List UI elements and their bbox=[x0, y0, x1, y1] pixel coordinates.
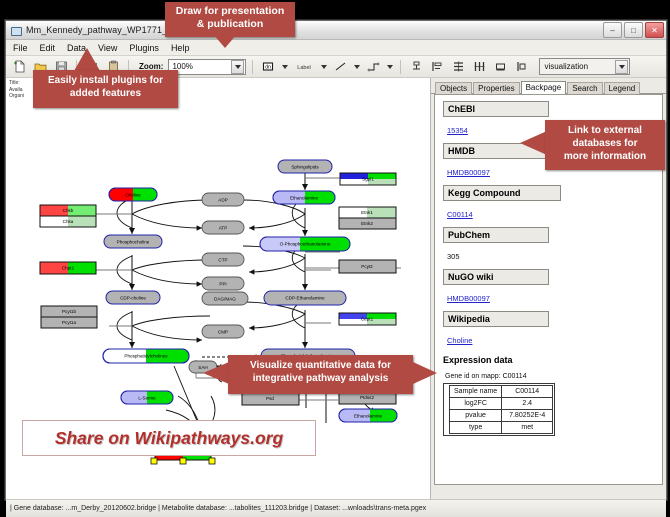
table-row: pvalue 7.80252E-4 bbox=[450, 410, 553, 422]
db-link-nugo[interactable]: HMDB00097 bbox=[447, 294, 490, 303]
gene-label: Chkb bbox=[63, 208, 74, 213]
callout-visualize-line2: integrative pathway analysis bbox=[228, 372, 413, 385]
gene-box-chkb-chka[interactable]: Chkb Chka bbox=[40, 205, 96, 227]
callout-links: Link to external databases for more info… bbox=[545, 120, 665, 170]
gene-box-cept1[interactable]: Cept1 bbox=[339, 313, 396, 325]
gene-box-chpt1[interactable]: Chpt1 bbox=[40, 262, 96, 274]
gene-label: Sgpl1 bbox=[362, 176, 374, 181]
node-ppi[interactable]: PPi bbox=[202, 277, 244, 290]
db-header-nugo: NuGO wiki bbox=[443, 269, 549, 285]
callout-visualize-line1: Visualize quantitative data for bbox=[228, 359, 413, 372]
node-label: CDP-Ethanolamine bbox=[285, 296, 325, 301]
node-label: CDP-choline bbox=[120, 295, 146, 300]
align-center-icon[interactable] bbox=[407, 58, 425, 76]
row-key: type bbox=[450, 422, 502, 434]
node-label: Ethanolamine bbox=[290, 195, 319, 200]
chevron-down-icon[interactable] bbox=[615, 60, 628, 74]
chevron-down-icon[interactable] bbox=[231, 60, 244, 74]
gene-id-label: Gene id on mapp: C00114 bbox=[445, 373, 654, 380]
gene-label: Etnk2 bbox=[361, 221, 373, 226]
gene-label: Chka bbox=[63, 219, 74, 224]
gene-label: Chpt1 bbox=[62, 265, 75, 270]
zoom-combobox[interactable]: 100% bbox=[168, 59, 246, 75]
app-icon bbox=[10, 24, 22, 36]
row-value: 2.4 bbox=[502, 398, 553, 410]
ungroup-icon[interactable] bbox=[512, 58, 530, 76]
connector-icon[interactable] bbox=[364, 58, 382, 76]
node-cdp-ethanolamine[interactable]: CDP-Ethanolamine bbox=[264, 291, 346, 305]
node-label: Phosphocholine bbox=[117, 239, 150, 244]
row-key: log2FC bbox=[450, 398, 502, 410]
menu-bar: File Edit Data View Plugins Help bbox=[6, 40, 666, 56]
row-value: 7.80252E-4 bbox=[502, 410, 553, 422]
db-header-kegg: Kegg Compound bbox=[443, 185, 561, 201]
row-key: Sample name bbox=[450, 386, 502, 398]
node-label: PPi bbox=[219, 281, 226, 286]
toolbar-separator bbox=[252, 60, 253, 74]
node-l-serine-left[interactable]: L-Serine bbox=[121, 391, 173, 404]
screenshot-root: Mm_Kennedy_pathway_WP1771_45176.gpml – □… bbox=[0, 0, 670, 509]
tab-search[interactable]: Search bbox=[567, 82, 602, 94]
node-sphingolipids[interactable]: Sphingolipids bbox=[278, 160, 332, 173]
table-row: Sample name C00114 bbox=[450, 386, 553, 398]
callout-share: Share on Wikipathways.org bbox=[22, 420, 316, 456]
gene-label: Cept1 bbox=[361, 316, 374, 321]
datanode-icon[interactable]: dn bbox=[259, 58, 277, 76]
row-value: met bbox=[502, 422, 553, 434]
gene-box-sgpl1[interactable]: Sgpl1 bbox=[340, 173, 396, 185]
node-cmp[interactable]: CMP bbox=[202, 325, 244, 338]
callout-plugins-arrow-icon bbox=[74, 48, 100, 71]
chevron-down-icon[interactable] bbox=[352, 60, 361, 74]
tab-properties[interactable]: Properties bbox=[473, 82, 519, 94]
node-ethanolamine-bottom[interactable]: Ethanolamine bbox=[339, 409, 397, 422]
callout-links-line3: more information bbox=[545, 150, 665, 163]
table-row: log2FC 2.4 bbox=[450, 398, 553, 410]
db-link-kegg[interactable]: C00114 bbox=[447, 210, 473, 219]
node-label: CTP bbox=[218, 257, 227, 262]
line-icon[interactable] bbox=[331, 58, 349, 76]
db-header-pubchem: PubChem bbox=[443, 227, 549, 243]
node-choline-top[interactable]: Choline bbox=[109, 188, 157, 201]
group-icon[interactable] bbox=[491, 58, 509, 76]
gene-box-pcyt2[interactable]: Pcyt2 bbox=[339, 260, 396, 273]
db-header-wikipedia: Wikipedia bbox=[443, 311, 549, 327]
gene-box-pcyt1b-pcyt1a[interactable]: Pcyt1b Pcyt1a bbox=[41, 306, 97, 328]
callout-plugins: Easily install plugins for added feature… bbox=[33, 70, 178, 108]
expression-data-title: Expression data bbox=[443, 355, 654, 365]
node-phosphatidylcholines[interactable]: Phosphatidylcholines bbox=[103, 349, 189, 363]
callout-draw: Draw for presentation & publication bbox=[165, 2, 295, 37]
title-bar: Mm_Kennedy_pathway_WP1771_45176.gpml – □… bbox=[6, 21, 666, 40]
menu-plugins[interactable]: Plugins bbox=[127, 43, 161, 53]
node-label: Ethanolamine bbox=[354, 413, 383, 418]
gene-label: Pcyt2 bbox=[361, 264, 373, 269]
maximize-button[interactable]: □ bbox=[624, 22, 643, 38]
db-link-wikipedia[interactable]: Choline bbox=[447, 336, 472, 345]
node-dag-mag[interactable]: DAG/MAG bbox=[202, 292, 248, 305]
node-o-phosphoethanolamine[interactable]: O-Phosphoethanolamine bbox=[260, 237, 350, 251]
gene-label: Etnk1 bbox=[361, 210, 373, 215]
node-cdp-choline[interactable]: CDP-choline bbox=[106, 291, 160, 304]
close-button[interactable]: ✕ bbox=[645, 22, 664, 38]
gene-box-etnk1-etnk2[interactable]: Etnk1 Etnk2 bbox=[339, 207, 396, 229]
new-file-icon[interactable] bbox=[10, 58, 28, 76]
callout-visualize: Visualize quantitative data for integrat… bbox=[228, 355, 413, 394]
svg-text:dn: dn bbox=[265, 64, 271, 70]
visualization-value: visualization bbox=[544, 62, 588, 71]
callout-draw-arrow-icon bbox=[213, 34, 237, 48]
row-value: C00114 bbox=[502, 386, 553, 398]
status-bar: | Gene database: ...m_Derby_20120602.bri… bbox=[6, 499, 666, 517]
node-phosphocholine[interactable]: Phosphocholine bbox=[104, 235, 162, 248]
tab-legend[interactable]: Legend bbox=[604, 82, 641, 94]
menu-help[interactable]: Help bbox=[169, 43, 192, 53]
side-panel-tabs: Objects Properties Backpage Search Legen… bbox=[431, 79, 666, 94]
gene-label: Psd bbox=[266, 396, 274, 401]
menu-file[interactable]: File bbox=[11, 43, 30, 53]
node-label: ATP bbox=[219, 225, 228, 230]
callout-links-arrow-icon bbox=[520, 131, 547, 155]
toolbar-separator bbox=[400, 60, 401, 74]
node-atp[interactable]: ATP bbox=[202, 221, 244, 234]
callout-links-line1: Link to external bbox=[545, 124, 665, 137]
callout-share-text: Share on Wikipathways.org bbox=[55, 428, 283, 449]
callout-plugins-line1: Easily install plugins for bbox=[33, 74, 178, 87]
distribute-icon[interactable] bbox=[470, 58, 488, 76]
expression-table: Sample name C00114 log2FC 2.4 pvalue 7.8… bbox=[449, 385, 553, 434]
node-label: Sphingolipids bbox=[291, 164, 319, 169]
node-label: CMP bbox=[218, 329, 228, 334]
gene-label: Pcyt1b bbox=[62, 309, 76, 314]
node-label: O-Phosphoethanolamine bbox=[280, 242, 331, 247]
db-value-pubchem: 305 bbox=[447, 252, 460, 261]
node-ethanolamine[interactable]: Ethanolamine bbox=[273, 191, 335, 204]
node-label: DAG/MAG bbox=[214, 296, 236, 301]
callout-links-line2: databases for bbox=[545, 137, 665, 150]
node-ctp[interactable]: CTP bbox=[202, 253, 244, 266]
node-label: Choline bbox=[125, 192, 141, 197]
callout-visualize-arrow-left-icon bbox=[203, 362, 229, 384]
expression-table-wrapper: Sample name C00114 log2FC 2.4 pvalue 7.8… bbox=[443, 383, 555, 436]
db-header-chebi: ChEBI bbox=[443, 101, 549, 117]
menu-edit[interactable]: Edit bbox=[38, 43, 58, 53]
row-key: pvalue bbox=[450, 410, 502, 422]
chevron-down-icon[interactable] bbox=[385, 60, 394, 74]
label-text: Label bbox=[298, 65, 311, 71]
tab-backpage[interactable]: Backpage bbox=[521, 81, 567, 94]
chevron-down-icon[interactable] bbox=[319, 60, 328, 74]
window-controls: – □ ✕ bbox=[603, 22, 664, 38]
tab-objects[interactable]: Objects bbox=[435, 82, 472, 94]
label-icon[interactable]: Label bbox=[292, 58, 316, 76]
node-label: ADP bbox=[218, 197, 227, 202]
table-row: type met bbox=[450, 422, 553, 434]
gene-label: Ptdss2 bbox=[360, 395, 374, 400]
db-link-chebi[interactable]: 15354 bbox=[447, 126, 468, 135]
stack-icon[interactable] bbox=[449, 58, 467, 76]
node-label: Phosphatidylcholines bbox=[124, 354, 168, 359]
chevron-down-icon[interactable] bbox=[280, 60, 289, 74]
gene-label: Pcyt1a bbox=[62, 320, 76, 325]
callout-draw-line1: Draw for presentation bbox=[165, 5, 295, 18]
callout-plugins-line2: added features bbox=[33, 87, 178, 100]
node-label: L-Serine bbox=[138, 395, 156, 400]
visualization-combobox[interactable]: visualization bbox=[539, 58, 630, 75]
minimize-button[interactable]: – bbox=[603, 22, 622, 38]
callout-visualize-arrow-right-icon bbox=[413, 362, 437, 384]
align-left-icon[interactable] bbox=[428, 58, 446, 76]
callout-draw-line2: & publication bbox=[165, 18, 295, 31]
node-adp[interactable]: ADP bbox=[202, 193, 244, 206]
db-link-hmdb[interactable]: HMDB00097 bbox=[447, 168, 490, 177]
